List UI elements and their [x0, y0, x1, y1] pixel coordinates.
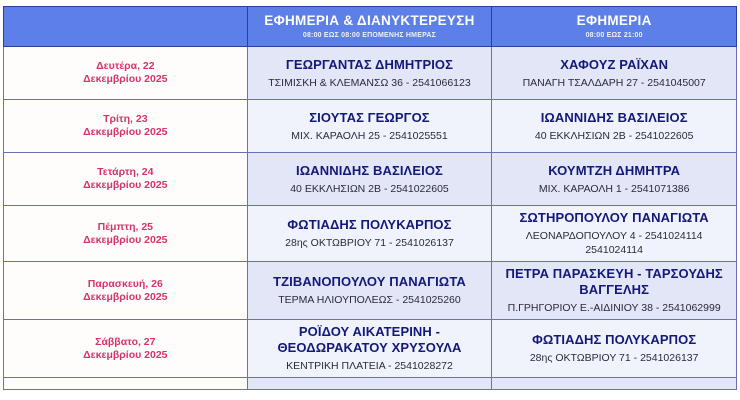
pharmacy-address: ΚΕΝΤΡΙΚΗ ΠΛΑΤΕΙΑ - 2541028272: [253, 359, 487, 373]
date-cell: Τρίτη, 23 Δεκεμβρίου 2025: [3, 100, 248, 153]
day-pharmacy-cell: ΦΩΤΙΑΔΗΣ ΠΟΛΥΚΑΡΠΟΣ 28ης ΟΚΤΩΒΡΙΟΥ 71 - …: [492, 320, 737, 378]
date-line-1: Δευτέρα, 22: [9, 60, 242, 73]
date-cell: Δευτέρα, 22 Δεκεμβρίου 2025: [3, 47, 248, 100]
pharmacy-name: ΚΟΥΜΤΖΗ ΔΗΜΗΤΡΑ: [497, 163, 731, 179]
duty-pharmacy-schedule: ΕΦΗΜΕΡΙΑ & ΔΙΑΝΥΚΤΕΡΕΥΣΗ 08:00 ΕΩΣ 08:00…: [0, 0, 740, 400]
overnight-pharmacy-cell: ΓΕΩΡΓΑΝΤΑΣ ΔΗΜΗΤΡΙΟΣ ΤΣΙΜΙΣΚΗ & ΚΛΕΜΑΝΣΩ…: [248, 47, 493, 100]
table-body: Δευτέρα, 22 Δεκεμβρίου 2025 ΓΕΩΡΓΑΝΤΑΣ Δ…: [3, 47, 737, 390]
day-pharmacy-cell: [492, 378, 737, 390]
pharmacy-name: ΧΑΦΟΥΖ ΡΑΪΧΑΝ: [497, 57, 731, 73]
day-pharmacy-cell: ΧΑΦΟΥΖ ΡΑΪΧΑΝ ΠΑΝΑΓΗ ΤΣΑΛΔΑΡΗ 27 - 25410…: [492, 47, 737, 100]
pharmacy-address: ΠΑΝΑΓΗ ΤΣΑΛΔΑΡΗ 27 - 2541045007: [497, 76, 731, 90]
overnight-pharmacy-cell: ΦΩΤΙΑΔΗΣ ΠΟΛΥΚΑΡΠΟΣ 28ης ΟΚΤΩΒΡΙΟΥ 71 - …: [248, 206, 493, 262]
pharmacy-address: ΜΙΧ. ΚΑΡΑΟΛΗ 25 - 2541025551: [253, 129, 487, 143]
pharmacy-name: ΙΩΑΝΝΙΔΗΣ ΒΑΣΙΛΕΙΟΣ: [497, 110, 731, 126]
pharmacy-name: ΦΩΤΙΑΔΗΣ ΠΟΛΥΚΑΡΠΟΣ: [253, 217, 487, 233]
pharmacy-address: 28ης ΟΚΤΩΒΡΙΟΥ 71 - 2541026137: [497, 351, 731, 365]
date-line-2: Δεκεμβρίου 2025: [9, 73, 242, 86]
day-pharmacy-cell: ΠΕΤΡΑ ΠΑΡΑΣΚΕΥΗ - ΤΑΡΣΟΥΔΗΣ ΒΑΓΓΕΛΗΣ Π.Γ…: [492, 262, 737, 320]
overnight-pharmacy-cell: ΙΩΑΝΝΙΔΗΣ ΒΑΣΙΛΕΙΟΣ 40 ΕΚΚΛΗΣΙΩΝ 2Β - 25…: [248, 153, 493, 206]
pharmacy-name: ΙΩΑΝΝΙΔΗΣ ΒΑΣΙΛΕΙΟΣ: [253, 163, 487, 179]
header-title-overnight: ΕΦΗΜΕΡΙΑ & ΔΙΑΝΥΚΤΕΡΕΥΣΗ: [252, 13, 488, 28]
header-subtitle-overnight: 08:00 ΕΩΣ 08:00 ΕΠΟΜΕΝΗΣ ΗΜΕΡΑΣ: [252, 31, 488, 41]
pharmacy-address: ΤΣΙΜΙΣΚΗ & ΚΛΕΜΑΝΣΩ 36 - 2541066123: [253, 76, 487, 90]
pharmacy-name: ΓΕΩΡΓΑΝΤΑΣ ΔΗΜΗΤΡΙΟΣ: [253, 57, 487, 73]
table-row: Πέμπτη, 25 Δεκεμβρίου 2025 ΦΩΤΙΑΔΗΣ ΠΟΛΥ…: [3, 206, 737, 262]
pharmacy-name: ΠΕΤΡΑ ΠΑΡΑΣΚΕΥΗ - ΤΑΡΣΟΥΔΗΣ ΒΑΓΓΕΛΗΣ: [497, 266, 731, 298]
date-line-1: Σάββατο, 27: [9, 336, 242, 349]
date-cell: Πέμπτη, 25 Δεκεμβρίου 2025: [3, 206, 248, 262]
date-cell: Σάββατο, 27 Δεκεμβρίου 2025: [3, 320, 248, 378]
date-line-2: Δεκεμβρίου 2025: [9, 291, 242, 304]
table-row: Τρίτη, 23 Δεκεμβρίου 2025 ΣΙΟΥΤΑΣ ΓΕΩΡΓΟ…: [3, 100, 737, 153]
header-title-day: ΕΦΗΜΕΡΙΑ: [496, 13, 732, 28]
date-line-2: Δεκεμβρίου 2025: [9, 349, 242, 362]
overnight-pharmacy-cell: ΣΙΟΥΤΑΣ ΓΕΩΡΓΟΣ ΜΙΧ. ΚΑΡΑΟΛΗ 25 - 254102…: [248, 100, 493, 153]
pharmacy-name: ΤΖΙΒΑΝΟΠΟΥΛΟΥ ΠΑΝΑΓΙΩΤΑ: [253, 274, 487, 290]
duty-table: ΕΦΗΜΕΡΙΑ & ΔΙΑΝΥΚΤΕΡΕΥΣΗ 08:00 ΕΩΣ 08:00…: [3, 6, 737, 390]
pharmacy-name: ΡΟΪΔΟΥ ΑΙΚΑΤΕΡΙΝΗ - ΘΕΟΔΩΡΑΚΑΤΟΥ ΧΡΥΣΟΥΛ…: [253, 324, 487, 356]
header-subtitle-day: 08:00 ΕΩΣ 21:00: [496, 31, 732, 41]
date-cell: [3, 378, 248, 390]
date-line-1: Τετάρτη, 24: [9, 166, 242, 179]
date-line-2: Δεκεμβρίου 2025: [9, 179, 242, 192]
date-line-1: Πέμπτη, 25: [9, 221, 242, 234]
pharmacy-address: ΜΙΧ. ΚΑΡΑΟΛΗ 1 - 2541071386: [497, 182, 731, 196]
pharmacy-address: 40 ΕΚΚΛΗΣΙΩΝ 2Β - 2541022605: [253, 182, 487, 196]
pharmacy-address: 40 ΕΚΚΛΗΣΙΩΝ 2Β - 2541022605: [497, 129, 731, 143]
table-row: [3, 378, 737, 390]
date-line-2: Δεκεμβρίου 2025: [9, 126, 242, 139]
date-cell: Παρασκευή, 26 Δεκεμβρίου 2025: [3, 262, 248, 320]
pharmacy-name: ΦΩΤΙΑΔΗΣ ΠΟΛΥΚΑΡΠΟΣ: [497, 332, 731, 348]
header-cell-day: ΕΦΗΜΕΡΙΑ 08:00 ΕΩΣ 21:00: [492, 6, 737, 47]
table-row: Τετάρτη, 24 Δεκεμβρίου 2025 ΙΩΑΝΝΙΔΗΣ ΒΑ…: [3, 153, 737, 206]
date-line-1: Τρίτη, 23: [9, 113, 242, 126]
pharmacy-address: ΛΕΟΝΑΡΔΟΠΟΥΛΟΥ 4 - 2541024114 2541024114: [497, 229, 731, 257]
overnight-pharmacy-cell: ΤΖΙΒΑΝΟΠΟΥΛΟΥ ΠΑΝΑΓΙΩΤΑ ΤΕΡΜΑ ΗΛΙΟΥΠΟΛΕΩ…: [248, 262, 493, 320]
date-line-2: Δεκεμβρίου 2025: [9, 234, 242, 247]
day-pharmacy-cell: ΚΟΥΜΤΖΗ ΔΗΜΗΤΡΑ ΜΙΧ. ΚΑΡΑΟΛΗ 1 - 2541071…: [492, 153, 737, 206]
table-row: Σάββατο, 27 Δεκεμβρίου 2025 ΡΟΪΔΟΥ ΑΙΚΑΤ…: [3, 320, 737, 378]
overnight-pharmacy-cell: ΡΟΪΔΟΥ ΑΙΚΑΤΕΡΙΝΗ - ΘΕΟΔΩΡΑΚΑΤΟΥ ΧΡΥΣΟΥΛ…: [248, 320, 493, 378]
pharmacy-address: 28ης ΟΚΤΩΒΡΙΟΥ 71 - 2541026137: [253, 236, 487, 250]
day-pharmacy-cell: ΙΩΑΝΝΙΔΗΣ ΒΑΣΙΛΕΙΟΣ 40 ΕΚΚΛΗΣΙΩΝ 2Β - 25…: [492, 100, 737, 153]
table-row: Παρασκευή, 26 Δεκεμβρίου 2025 ΤΖΙΒΑΝΟΠΟΥ…: [3, 262, 737, 320]
pharmacy-name: ΣΩΤΗΡΟΠΟΥΛΟΥ ΠΑΝΑΓΙΩΤΑ: [497, 210, 731, 226]
header-row: ΕΦΗΜΕΡΙΑ & ΔΙΑΝΥΚΤΕΡΕΥΣΗ 08:00 ΕΩΣ 08:00…: [3, 6, 737, 47]
overnight-pharmacy-cell: [248, 378, 493, 390]
pharmacy-address: ΤΕΡΜΑ ΗΛΙΟΥΠΟΛΕΩΣ - 2541025260: [253, 293, 487, 307]
table-row: Δευτέρα, 22 Δεκεμβρίου 2025 ΓΕΩΡΓΑΝΤΑΣ Δ…: [3, 47, 737, 100]
pharmacy-name: ΣΙΟΥΤΑΣ ΓΕΩΡΓΟΣ: [253, 110, 487, 126]
pharmacy-address: Π.ΓΡΗΓΟΡΙΟΥ Ε.-ΑΙΔΙΝΙΟΥ 38 - 2541062999: [497, 301, 731, 315]
header-cell-date: [3, 6, 248, 47]
date-line-1: Παρασκευή, 26: [9, 278, 242, 291]
table-header: ΕΦΗΜΕΡΙΑ & ΔΙΑΝΥΚΤΕΡΕΥΣΗ 08:00 ΕΩΣ 08:00…: [3, 6, 737, 47]
header-cell-overnight: ΕΦΗΜΕΡΙΑ & ΔΙΑΝΥΚΤΕΡΕΥΣΗ 08:00 ΕΩΣ 08:00…: [248, 6, 493, 47]
day-pharmacy-cell: ΣΩΤΗΡΟΠΟΥΛΟΥ ΠΑΝΑΓΙΩΤΑ ΛΕΟΝΑΡΔΟΠΟΥΛΟΥ 4 …: [492, 206, 737, 262]
date-cell: Τετάρτη, 24 Δεκεμβρίου 2025: [3, 153, 248, 206]
